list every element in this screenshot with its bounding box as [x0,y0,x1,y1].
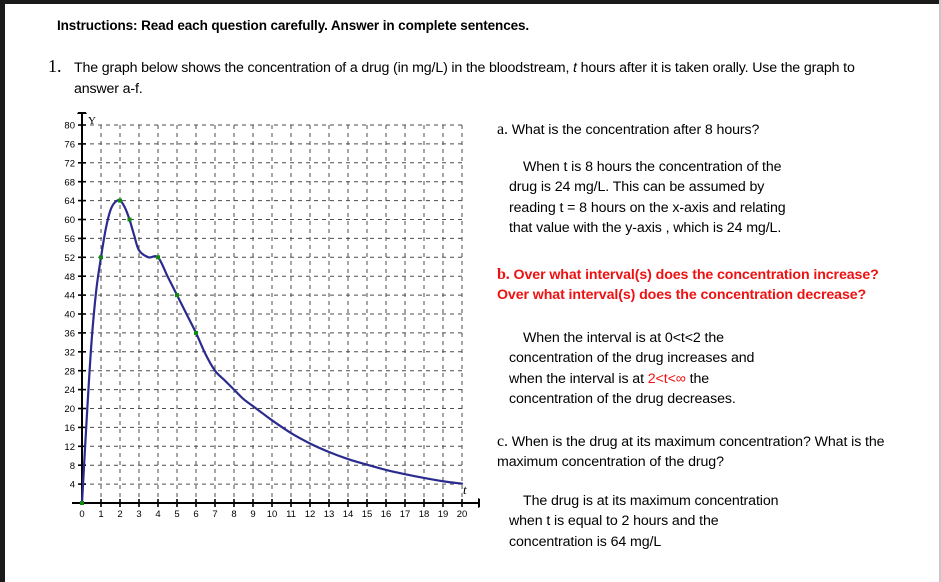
axis-ticks [78,125,462,507]
answer-block-b: b. Over what interval(s) does the concen… [497,265,897,410]
spacer [497,475,897,491]
svg-text:16: 16 [64,423,75,434]
response-a-line-3: reading t = 8 hours on the x-axis and re… [509,200,786,216]
svg-text:17: 17 [400,509,411,520]
spacer [497,410,897,432]
svg-text:64: 64 [64,196,75,207]
svg-text:72: 72 [64,158,75,169]
response-c: The drug is at its maximum concentration… [497,491,839,553]
question-text-part1: The graph below shows the concentration … [74,60,573,76]
prompt-b-label: b. [497,266,510,283]
svg-text:18: 18 [419,509,430,520]
svg-text:0: 0 [79,509,84,520]
svg-text:2: 2 [117,509,122,520]
instructions-heading: Instructions: Read each question careful… [57,18,529,33]
x-axis-tick-labels: 01234567891011121314151617181920 [79,509,467,520]
svg-text:12: 12 [305,509,316,520]
prompt-a-text: What is the concentration after 8 hours? [512,122,760,138]
response-a-line-1: When t is 8 hours the concentration of t… [509,159,781,175]
response-c-line-3: concentration is 64 mg/L [509,534,661,550]
svg-text:4: 4 [155,509,160,520]
question-prompt: The graph below shows the concentration … [74,58,889,100]
y-axis-label: Y [88,115,96,127]
y-axis-tick-labels: 48121620242832364044485256606468727680 [64,121,75,491]
svg-text:12: 12 [64,442,75,453]
graph-canvas: 48121620242832364044485256606468727680 0… [60,112,480,522]
grid-lines [82,125,462,503]
svg-text:20: 20 [457,509,468,520]
prompt-c: c. When is the drug at its maximum conce… [497,432,897,473]
svg-text:8: 8 [70,461,75,472]
prompt-b-text: Over what interval(s) does the concentra… [497,267,879,304]
svg-text:56: 56 [64,234,75,245]
svg-text:10: 10 [267,509,278,520]
svg-text:68: 68 [64,177,75,188]
svg-text:4: 4 [70,480,75,491]
svg-text:14: 14 [343,509,354,520]
svg-text:20: 20 [64,404,75,415]
response-b-line-1: When the interval is at 0<t<2 the [509,330,724,346]
answers-column: a. What is the concentration after 8 hou… [497,120,897,552]
svg-text:52: 52 [64,253,75,264]
response-b-line-4: concentration of the drug decreases. [509,391,736,407]
response-c-line-1: The drug is at its maximum concentration [509,493,778,509]
question-number: 1. [48,56,62,77]
response-c-line-2: when t is equal to 2 hours and the [509,513,719,529]
axes [72,112,480,508]
svg-text:3: 3 [136,509,141,520]
svg-text:32: 32 [64,347,75,358]
prompt-a-label: a. [497,121,508,138]
svg-text:28: 28 [64,366,75,377]
svg-text:36: 36 [64,329,75,340]
svg-text:5: 5 [174,509,179,520]
response-a: When t is 8 hours the concentration of t… [497,157,839,239]
svg-text:8: 8 [231,509,236,520]
response-b-line-3-tail: the [686,371,709,387]
drug-concentration-graph: 48121620242832364044485256606468727680 0… [60,112,480,522]
svg-text:48: 48 [64,272,75,283]
svg-text:9: 9 [250,509,255,520]
response-a-line-4: that value with the y-axis , which is 24… [509,220,781,236]
prompt-c-text: When is the drug at its maximum concentr… [497,434,884,471]
prompt-a: a. What is the concentration after 8 hou… [497,120,897,141]
prompt-b: b. Over what interval(s) does the concen… [497,265,897,306]
spacer [497,239,897,265]
spacer [497,143,897,157]
svg-text:80: 80 [64,121,75,132]
svg-text:7: 7 [212,509,217,520]
response-a-line-2: drug is 24 mg/L. This can be assumed by [509,179,764,195]
svg-text:13: 13 [324,509,335,520]
response-b: When the interval is at 0<t<2 the concen… [497,328,839,410]
svg-text:6: 6 [193,509,198,520]
svg-text:60: 60 [64,215,75,226]
svg-text:44: 44 [64,291,75,302]
svg-text:24: 24 [64,385,75,396]
svg-text:1: 1 [98,509,103,520]
svg-text:15: 15 [362,509,373,520]
answer-block-c: c. When is the drug at its maximum conce… [497,432,897,553]
x-axis-label: t [463,482,467,497]
svg-text:19: 19 [438,509,449,520]
response-b-line-2: concentration of the drug increases and [509,350,754,366]
response-b-line-3: when the interval is at [509,371,648,387]
answer-block-a: a. What is the concentration after 8 hou… [497,120,897,239]
svg-text:40: 40 [64,310,75,321]
response-b-interval-highlight: 2<t<∞ [648,371,686,387]
prompt-c-label: c. [497,433,508,450]
svg-text:11: 11 [286,509,296,520]
svg-text:76: 76 [64,140,75,151]
spacer [497,308,897,328]
svg-text:16: 16 [381,509,392,520]
